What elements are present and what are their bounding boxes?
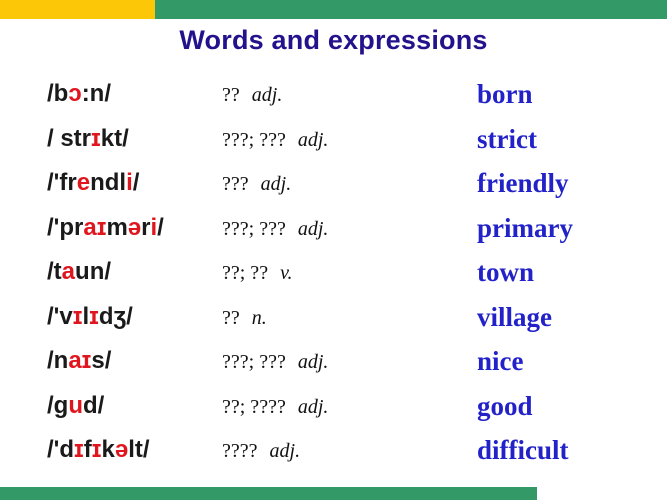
translation-cell: ??; ??v. [222, 258, 462, 288]
english-word: nice [477, 344, 667, 378]
phoneme-highlight: u [68, 392, 83, 419]
english-word: difficult [477, 433, 667, 467]
phoneme-plain: /n [47, 347, 68, 374]
phonetic-transcription: /taun/ [47, 256, 222, 288]
translation-text: ??? [222, 173, 249, 195]
phoneme-highlight: ɪ [73, 303, 83, 330]
english-word: friendly [477, 166, 667, 200]
part-of-speech: adj. [252, 84, 283, 106]
phoneme-plain: /'pr [47, 214, 83, 241]
phonetic-transcription: /gud/ [47, 390, 222, 422]
phoneme-highlight: e [77, 169, 90, 196]
phoneme-plain: r [141, 214, 150, 241]
phoneme-plain: kt/ [101, 125, 129, 152]
translation-text: ??; ?? [222, 262, 268, 284]
vocabulary-row: /'praɪməri/???; ???adj.primary [0, 212, 667, 257]
phonetic-transcription: /naɪs/ [47, 345, 222, 377]
phoneme-plain: /'fr [47, 169, 77, 196]
phoneme-highlight: ə [115, 436, 128, 463]
translation-text: ?? [222, 307, 240, 329]
english-word: primary [477, 211, 667, 245]
vocabulary-row: /bɔ:n/??adj.born [0, 78, 667, 123]
phoneme-plain: / [157, 214, 164, 241]
phoneme-highlight: ɪ [91, 125, 101, 152]
phoneme-highlight: ɔ [68, 80, 81, 107]
phoneme-plain: /'d [47, 436, 74, 463]
translation-cell: ??adj. [222, 80, 462, 110]
english-word: good [477, 389, 667, 423]
phoneme-plain: ndl [90, 169, 126, 196]
translation-cell: ???; ???adj. [222, 214, 462, 244]
phonetic-transcription: /'praɪməri/ [47, 212, 222, 244]
part-of-speech: adj. [261, 173, 292, 195]
phonetic-transcription: /'vɪlɪdʒ/ [47, 301, 222, 333]
phonetic-transcription: /'dɪfɪkəlt/ [47, 434, 222, 466]
phoneme-plain: s/ [91, 347, 111, 374]
phoneme-plain: f [84, 436, 92, 463]
part-of-speech: v. [280, 262, 292, 284]
decorative-top-bar-green [155, 0, 667, 19]
phonetic-transcription: /'frendli/ [47, 167, 222, 199]
translation-cell: ??; ????adj. [222, 392, 462, 422]
english-word: strict [477, 122, 667, 156]
phoneme-highlight: ɪ [92, 436, 102, 463]
part-of-speech: n. [252, 307, 267, 329]
phoneme-plain: /'v [47, 303, 73, 330]
slide-canvas: Words and expressions /bɔ:n/??adj.born/ … [0, 0, 667, 500]
vocabulary-row: /naɪs/???; ???adj.nice [0, 345, 667, 390]
phoneme-plain: dʒ/ [99, 303, 133, 330]
phoneme-highlight: aɪ [83, 214, 106, 241]
english-word: village [477, 300, 667, 334]
translation-text: ???; ??? [222, 351, 286, 373]
phoneme-plain: d/ [83, 392, 104, 419]
phoneme-plain: / [133, 169, 140, 196]
phoneme-plain: m [106, 214, 127, 241]
vocabulary-row: /taun/??; ??v.town [0, 256, 667, 301]
phoneme-plain: /b [47, 80, 68, 107]
translation-cell: ???; ???adj. [222, 125, 462, 155]
phoneme-plain: /g [47, 392, 68, 419]
english-word: town [477, 255, 667, 289]
page-title: Words and expressions [0, 25, 667, 56]
part-of-speech: adj. [270, 440, 301, 462]
phoneme-plain: k [102, 436, 115, 463]
decorative-top-bar-yellow [0, 0, 155, 19]
phoneme-plain: / str [47, 125, 91, 152]
phoneme-highlight: aɪ [68, 347, 91, 374]
english-word: born [477, 77, 667, 111]
translation-cell: ???; ???adj. [222, 347, 462, 377]
phoneme-highlight: ə [128, 214, 141, 241]
vocabulary-row: /'frendli/???adj.friendly [0, 167, 667, 212]
phonetic-transcription: /bɔ:n/ [47, 78, 222, 110]
translation-text: ???; ??? [222, 129, 286, 151]
translation-text: ?? [222, 84, 240, 106]
vocabulary-table: /bɔ:n/??adj.born/ strɪkt/???; ???adj.str… [0, 78, 667, 479]
vocabulary-row: /'dɪfɪkəlt/????adj.difficult [0, 434, 667, 479]
part-of-speech: adj. [298, 218, 329, 240]
part-of-speech: adj. [298, 396, 329, 418]
phoneme-highlight: ɪ [89, 303, 99, 330]
phoneme-plain: /t [47, 258, 62, 285]
phonetic-transcription: / strɪkt/ [47, 123, 222, 155]
decorative-bottom-bar-green [0, 487, 537, 500]
vocabulary-row: / strɪkt/???; ???adj.strict [0, 123, 667, 168]
phoneme-plain: lt/ [128, 436, 149, 463]
translation-text: ???? [222, 440, 258, 462]
translation-cell: ???adj. [222, 169, 462, 199]
part-of-speech: adj. [298, 351, 329, 373]
translation-cell: ??n. [222, 303, 462, 333]
vocabulary-row: /gud/??; ????adj.good [0, 390, 667, 435]
phoneme-plain: :n/ [82, 80, 111, 107]
phoneme-plain: un/ [75, 258, 111, 285]
part-of-speech: adj. [298, 129, 329, 151]
vocabulary-row: /'vɪlɪdʒ/??n.village [0, 301, 667, 346]
phoneme-highlight: i [126, 169, 133, 196]
translation-text: ??; ???? [222, 396, 286, 418]
phoneme-highlight: a [62, 258, 75, 285]
translation-text: ???; ??? [222, 218, 286, 240]
phoneme-highlight: ɪ [74, 436, 84, 463]
translation-cell: ????adj. [222, 436, 462, 466]
